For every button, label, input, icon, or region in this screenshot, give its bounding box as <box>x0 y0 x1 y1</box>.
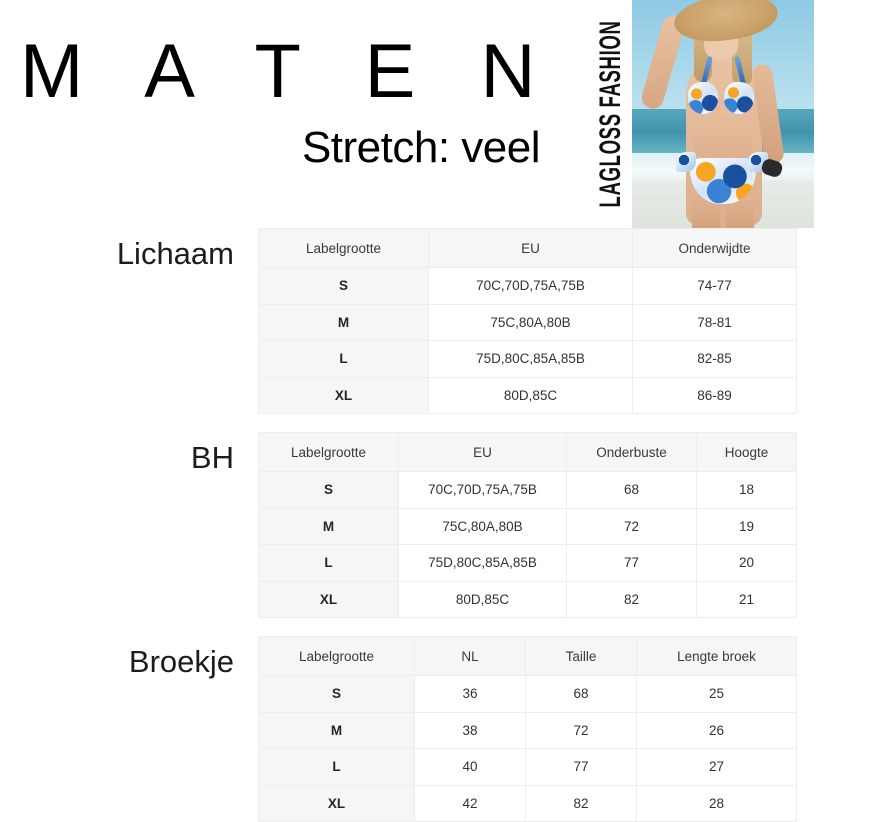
cell-size-label: XL <box>259 785 415 822</box>
cell-nl: 36 <box>415 676 526 713</box>
cell-size-label: L <box>259 341 429 378</box>
cell-lengte-broek: 27 <box>637 749 797 786</box>
cell-lengte-broek: 25 <box>637 676 797 713</box>
cell-eu: 80D,85C <box>399 581 567 618</box>
column-header-lengte-broek: Lengte broek <box>637 637 797 676</box>
cell-lengte-broek: 28 <box>637 785 797 822</box>
cell-taille: 68 <box>526 676 637 713</box>
column-header-onderwijdte: Onderwijdte <box>633 229 797 268</box>
cell-taille: 82 <box>526 785 637 822</box>
cell-nl: 38 <box>415 712 526 749</box>
section-broekje: Broekje Labelgrootte NL Taille Lengte br… <box>0 636 890 822</box>
cell-size-label: M <box>259 304 429 341</box>
cell-nl: 42 <box>415 785 526 822</box>
size-table-lichaam: Labelgrootte EU Onderwijdte S 70C,70D,75… <box>258 228 797 414</box>
cell-onderbuste: 72 <box>567 508 697 545</box>
column-header-eu: EU <box>429 229 633 268</box>
table-row: S 36 68 25 <box>259 676 797 713</box>
cell-onderwijdte: 86-89 <box>633 377 797 414</box>
cell-nl: 40 <box>415 749 526 786</box>
brand-vertical: LAGLOSS FASHION <box>583 0 639 228</box>
section-label-lichaam: Lichaam <box>0 228 258 272</box>
title-block: M A T E N Stretch: veel <box>0 34 545 170</box>
cell-size-label: L <box>259 545 399 582</box>
table-row: S 70C,70D,75A,75B 68 18 <box>259 472 797 509</box>
cell-size-label: S <box>259 472 399 509</box>
cell-eu: 70C,70D,75A,75B <box>399 472 567 509</box>
cell-eu: 75D,80C,85A,85B <box>429 341 633 378</box>
column-header-hoogte: Hoogte <box>697 433 797 472</box>
product-photo <box>632 0 814 228</box>
cell-onderwijdte: 78-81 <box>633 304 797 341</box>
photo-bikini-tie-left <box>676 152 696 172</box>
column-header-eu: EU <box>399 433 567 472</box>
table-row: M 75C,80A,80B 72 19 <box>259 508 797 545</box>
brand-label: LAGLOSS FASHION <box>594 20 628 207</box>
cell-onderbuste: 77 <box>567 545 697 582</box>
cell-size-label: S <box>259 676 415 713</box>
cell-size-label: M <box>259 712 415 749</box>
cell-size-label: XL <box>259 377 429 414</box>
section-label-bh: BH <box>0 432 258 476</box>
section-lichaam: Lichaam Labelgrootte EU Onderwijdte S 70… <box>0 228 890 414</box>
cell-eu: 75D,80C,85A,85B <box>399 545 567 582</box>
cell-onderwijdte: 82-85 <box>633 341 797 378</box>
page-header: M A T E N Stretch: veel LAGLOSS FASHION <box>0 0 890 228</box>
cell-eu: 75C,80A,80B <box>429 304 633 341</box>
table-row: M 75C,80A,80B 78-81 <box>259 304 797 341</box>
table-row: L 75D,80C,85A,85B 82-85 <box>259 341 797 378</box>
cell-hoogte: 19 <box>697 508 797 545</box>
table-row: M 38 72 26 <box>259 712 797 749</box>
table-row: L 40 77 27 <box>259 749 797 786</box>
cell-eu: 80D,85C <box>429 377 633 414</box>
cell-size-label: S <box>259 268 429 305</box>
table-wrap-bh: Labelgrootte EU Onderbuste Hoogte S 70C,… <box>258 432 796 618</box>
cell-eu: 70C,70D,75A,75B <box>429 268 633 305</box>
cell-onderbuste: 68 <box>567 472 697 509</box>
section-bh: BH Labelgrootte EU Onderbuste Hoogte S 7… <box>0 432 890 618</box>
cell-onderwijdte: 74-77 <box>633 268 797 305</box>
table-header-row: Labelgrootte EU Onderbuste Hoogte <box>259 433 797 472</box>
cell-size-label: M <box>259 508 399 545</box>
size-table-broekje: Labelgrootte NL Taille Lengte broek S 36… <box>258 636 797 822</box>
cell-taille: 77 <box>526 749 637 786</box>
page-title: M A T E N <box>0 34 540 110</box>
size-table-bh: Labelgrootte EU Onderbuste Hoogte S 70C,… <box>258 432 797 618</box>
table-row: XL 42 82 28 <box>259 785 797 822</box>
cell-hoogte: 21 <box>697 581 797 618</box>
cell-eu: 75C,80A,80B <box>399 508 567 545</box>
column-header-labelgrootte: Labelgrootte <box>259 229 429 268</box>
table-wrap-broekje: Labelgrootte NL Taille Lengte broek S 36… <box>258 636 796 822</box>
table-wrap-lichaam: Labelgrootte EU Onderwijdte S 70C,70D,75… <box>258 228 796 414</box>
cell-taille: 72 <box>526 712 637 749</box>
table-header-row: Labelgrootte EU Onderwijdte <box>259 229 797 268</box>
column-header-onderbuste: Onderbuste <box>567 433 697 472</box>
column-header-nl: NL <box>415 637 526 676</box>
cell-onderbuste: 82 <box>567 581 697 618</box>
table-row: XL 80D,85C 86-89 <box>259 377 797 414</box>
cell-lengte-broek: 26 <box>637 712 797 749</box>
column-header-labelgrootte: Labelgrootte <box>259 433 399 472</box>
cell-size-label: L <box>259 749 415 786</box>
table-row: XL 80D,85C 82 21 <box>259 581 797 618</box>
cell-hoogte: 18 <box>697 472 797 509</box>
table-header-row: Labelgrootte NL Taille Lengte broek <box>259 637 797 676</box>
column-header-taille: Taille <box>526 637 637 676</box>
table-row: S 70C,70D,75A,75B 74-77 <box>259 268 797 305</box>
section-label-broekje: Broekje <box>0 636 258 680</box>
table-row: L 75D,80C,85A,85B 77 20 <box>259 545 797 582</box>
column-header-labelgrootte: Labelgrootte <box>259 637 415 676</box>
cell-hoogte: 20 <box>697 545 797 582</box>
cell-size-label: XL <box>259 581 399 618</box>
page-subtitle: Stretch: veel <box>0 126 540 170</box>
